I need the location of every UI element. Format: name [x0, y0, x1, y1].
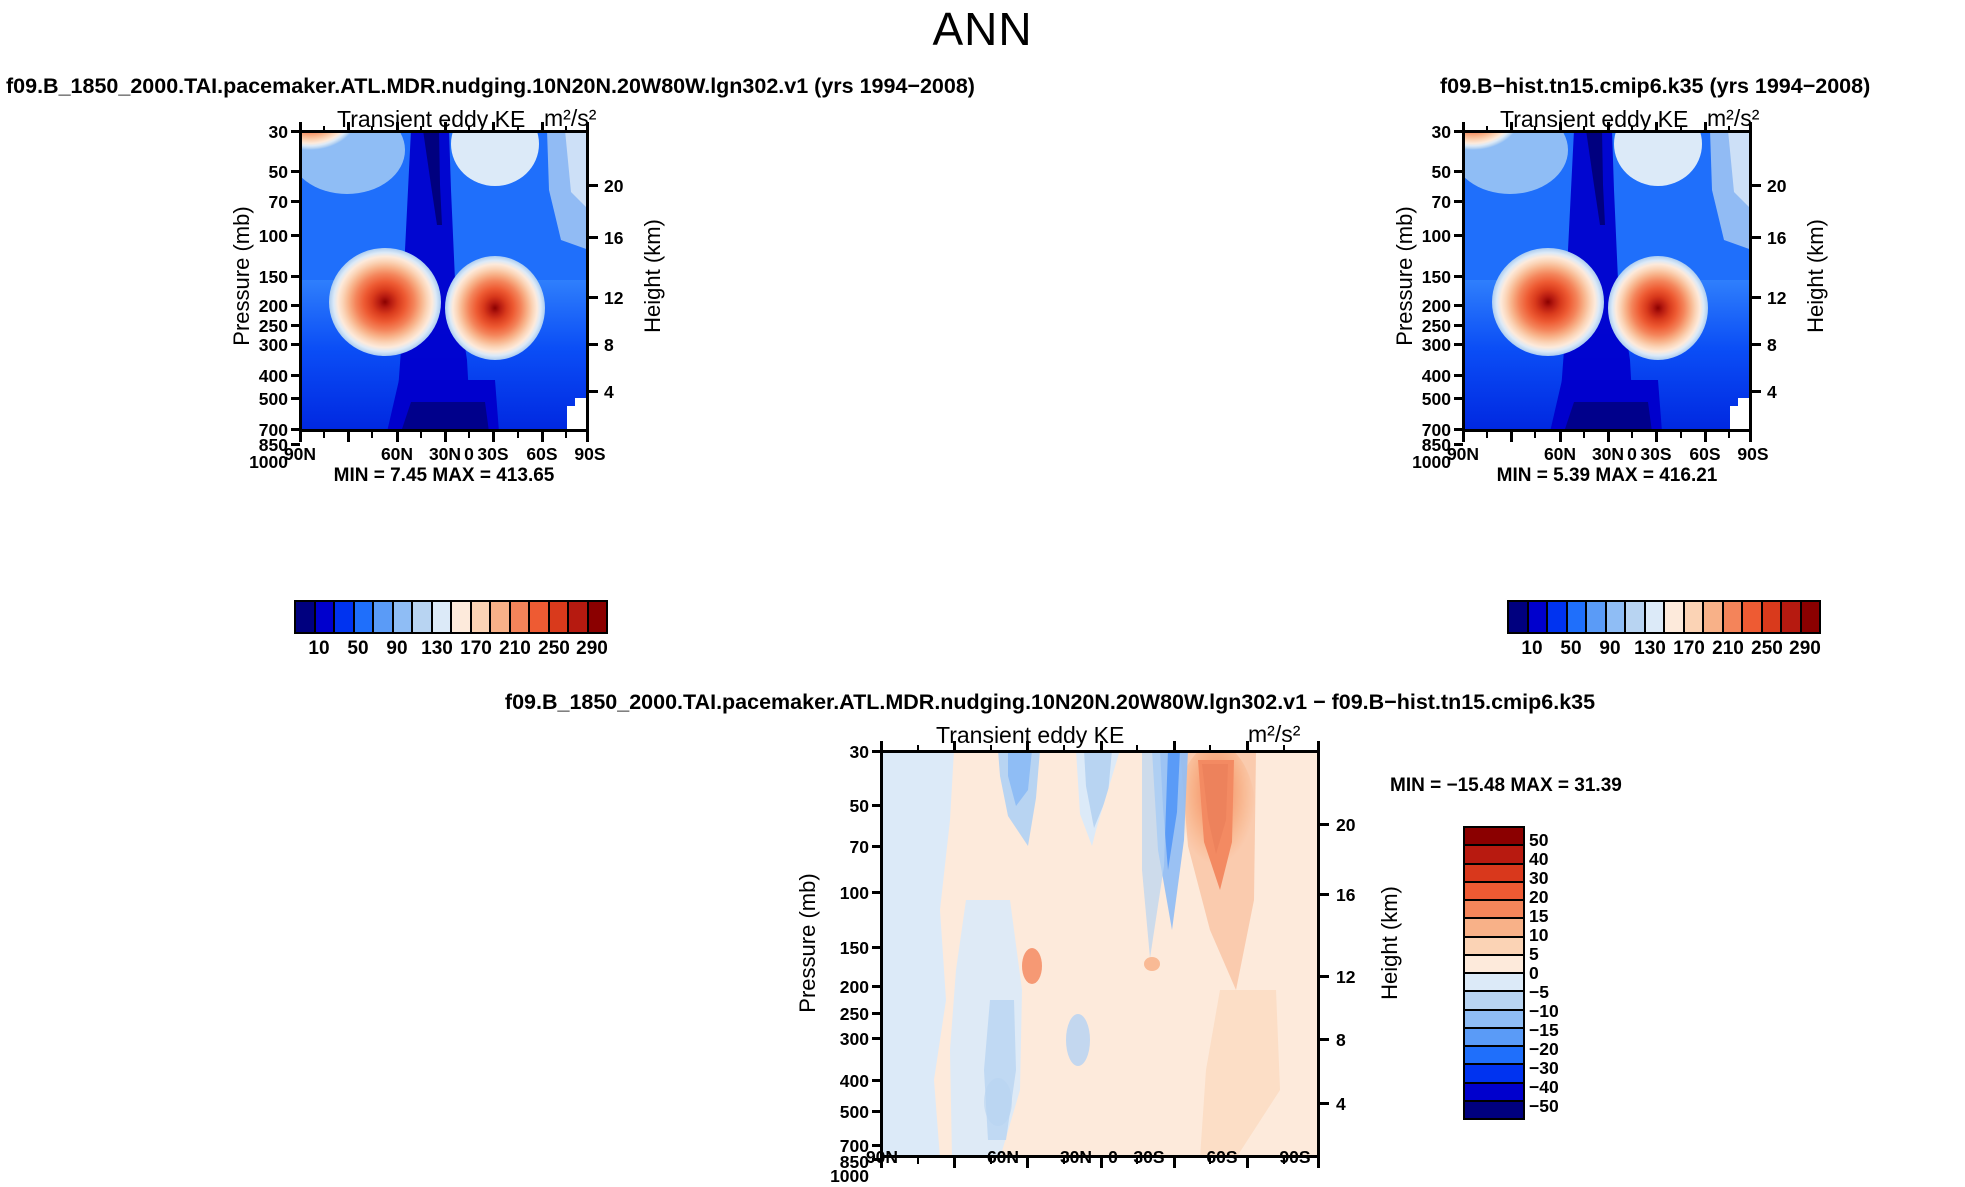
ytick-label: 50 [228, 162, 288, 183]
ytick-label: 200 [228, 296, 288, 317]
colorbar-swatch [1782, 602, 1802, 632]
colorbar-tick-label: 0 [1529, 963, 1589, 984]
y2tick [1320, 975, 1329, 978]
panel-title-right: f09.B−hist.tn15.cmip6.k35 (yrs 1994−2008… [1440, 74, 1870, 99]
y2tick-label: 8 [1336, 1030, 1380, 1051]
ytick [291, 304, 300, 307]
top-tick [1246, 741, 1249, 751]
ytick [291, 275, 300, 278]
colorbar-swatch [1607, 602, 1627, 632]
ytick [1454, 304, 1463, 307]
top-tick [1317, 741, 1320, 751]
ytick-label: 400 [809, 1071, 869, 1092]
y-axis-label-right-diff: Height (km) [1377, 858, 1403, 1028]
colorbar-swatch [1465, 846, 1523, 864]
ytick-label: 150 [809, 938, 869, 959]
colorbar-swatch [374, 602, 394, 632]
colorbar-left[interactable] [294, 600, 608, 634]
ytick [291, 200, 300, 203]
ytick [1454, 130, 1463, 133]
top-tick [565, 126, 567, 131]
colorbar-tick-label: −40 [1529, 1077, 1589, 1098]
ytick-label: 100 [228, 226, 288, 247]
ytick-label: 50 [1391, 162, 1451, 183]
ytick [291, 343, 300, 346]
colorbar-swatch [1509, 602, 1529, 632]
colorbar-swatch [1465, 1047, 1523, 1065]
y2tick [589, 296, 598, 299]
ytick-label: 30 [228, 122, 288, 143]
colorbar-swatch [1548, 602, 1568, 632]
ytick [291, 234, 300, 237]
xtick [1749, 432, 1752, 442]
y2tick-label: 20 [604, 176, 648, 197]
xtick [444, 432, 447, 442]
top-tick [541, 122, 544, 131]
ytick [291, 130, 300, 133]
xtick [1728, 432, 1730, 438]
colorbar-swatch [296, 602, 316, 632]
xtick [1486, 432, 1488, 438]
colorbar-diff[interactable] [1463, 826, 1525, 1120]
xtick [1462, 432, 1465, 442]
top-tick [420, 126, 422, 131]
ytick [872, 845, 881, 848]
top-tick [1100, 741, 1103, 751]
colorbar-swatch [1465, 1102, 1523, 1118]
colorbar-swatch [1465, 992, 1523, 1010]
top-tick [396, 122, 399, 131]
units-diff: m²/s² [1248, 721, 1300, 748]
colorbar-swatch [1743, 602, 1763, 632]
xtick-label: 60N [977, 1147, 1029, 1168]
xtick [371, 432, 373, 438]
y2tick [1320, 893, 1329, 896]
top-tick [492, 122, 495, 131]
colorbar-tick-label: −5 [1529, 982, 1589, 1003]
colorbar-swatch [355, 602, 375, 632]
xtick-label: 60S [1680, 444, 1730, 465]
xtick-label: 60S [1196, 1147, 1248, 1168]
xtick [492, 432, 495, 442]
ytick [291, 428, 300, 431]
colorbar-swatch [1465, 938, 1523, 956]
xtick-label: 90S [1728, 444, 1778, 465]
y2tick-label: 20 [1767, 176, 1811, 197]
ytick [1454, 428, 1463, 431]
ytick [872, 1079, 881, 1082]
y2tick [1320, 1102, 1329, 1105]
ytick [1454, 275, 1463, 278]
y2tick [1752, 184, 1761, 187]
ytick-label: 30 [1391, 122, 1451, 143]
ytick [872, 1012, 881, 1015]
xtick [517, 432, 519, 438]
top-tick [468, 126, 470, 131]
xtick [1655, 432, 1658, 442]
xtick-label: 60N [1535, 444, 1585, 465]
top-tick [1173, 741, 1176, 751]
ytick-label: 70 [228, 192, 288, 213]
ytick [1454, 324, 1463, 327]
ytick-label: 200 [809, 977, 869, 998]
y2tick-label: 12 [1767, 288, 1811, 309]
top-tick [1655, 122, 1658, 131]
field-name-left: Transient eddy KE [337, 106, 525, 133]
y2tick-label: 8 [1767, 335, 1811, 356]
y2tick-label: 20 [1336, 815, 1380, 836]
xtick [1631, 432, 1633, 438]
xtick [586, 432, 589, 442]
top-tick [1680, 126, 1682, 131]
colorbar-swatch [335, 602, 355, 632]
ytick-label: 300 [228, 335, 288, 356]
top-tick [1136, 745, 1138, 751]
ytick-label: 70 [809, 837, 869, 858]
ytick-label: 400 [1391, 366, 1451, 387]
colorbar-swatch [394, 602, 414, 632]
field-name-right: Transient eddy KE [1500, 106, 1688, 133]
colorbar-tick-label: −30 [1529, 1058, 1589, 1079]
ytick [291, 397, 300, 400]
y2tick [589, 390, 598, 393]
ytick-label: 250 [1391, 316, 1451, 337]
xtick-label: 30S [1631, 444, 1681, 465]
colorbar-swatch [1465, 1011, 1523, 1029]
ytick-label: 30 [809, 742, 869, 763]
ytick-label: 500 [1391, 389, 1451, 410]
y2tick-label: 8 [604, 335, 648, 356]
colorbar-tick-label: −10 [1529, 1001, 1589, 1022]
y2tick-label: 4 [1336, 1094, 1380, 1115]
xtick [1704, 432, 1707, 442]
y2tick [1752, 390, 1761, 393]
xtick [396, 432, 399, 442]
top-tick [1728, 126, 1730, 131]
ytick-label: 400 [228, 366, 288, 387]
y2tick [1320, 823, 1329, 826]
ytick-label: 300 [809, 1029, 869, 1050]
top-tick [586, 122, 589, 131]
ytick-label: 70 [1391, 192, 1451, 213]
ytick-label: 300 [1391, 335, 1451, 356]
xtick [1559, 432, 1562, 442]
xtick [468, 432, 470, 438]
colorbar-tick-label: 290 [1780, 638, 1830, 660]
y2tick-label: 12 [604, 288, 648, 309]
xtick [1534, 432, 1536, 438]
colorbar-tick-label: 30 [1529, 868, 1589, 889]
xtick [917, 1158, 919, 1164]
ytick [872, 891, 881, 894]
colorbar-tick-label: −15 [1529, 1020, 1589, 1041]
ytick [291, 374, 300, 377]
xtick [1583, 432, 1585, 438]
colorbar-swatch [589, 602, 607, 632]
colorbar-swatch [1465, 919, 1523, 937]
top-tick [953, 741, 956, 751]
colorbar-swatch [1465, 1084, 1523, 1102]
ytick [872, 985, 881, 988]
colorbar-swatch [530, 602, 550, 632]
top-tick [1534, 126, 1536, 131]
colorbar-swatch [1646, 602, 1666, 632]
colorbar-tick-label: 50 [1529, 830, 1589, 851]
xtick [1607, 432, 1610, 442]
ytick [872, 946, 881, 949]
colorbar-swatch [1587, 602, 1607, 632]
y2tick [589, 343, 598, 346]
colorbar-swatch [1529, 602, 1549, 632]
xtick-label: 90N [856, 1147, 908, 1168]
y2tick-label: 16 [1767, 228, 1811, 249]
colorbar-swatch [1465, 865, 1523, 883]
ytick [291, 324, 300, 327]
ytick [872, 750, 881, 753]
colorbar-swatch [1763, 602, 1783, 632]
ytick-label: 1000 [799, 1166, 869, 1187]
colorbar-tick-label: −50 [1529, 1096, 1589, 1117]
colorbar-swatch [491, 602, 511, 632]
ytick-label: 500 [809, 1102, 869, 1123]
colorbar-tick-label: −20 [1529, 1039, 1589, 1060]
colorbar-tick-label: 20 [1529, 887, 1589, 908]
colorbar-swatch [1465, 956, 1523, 974]
xtick [299, 432, 302, 442]
panel-title-diff: f09.B_1850_2000.TAI.pacemaker.ATL.MDR.nu… [500, 690, 1600, 715]
colorbar-swatch [1465, 901, 1523, 919]
colorbar-swatch [1465, 883, 1523, 901]
ytick [872, 1110, 881, 1113]
top-tick [1209, 745, 1211, 751]
ytick-label: 150 [1391, 267, 1451, 288]
field-name-diff: Transient eddy KE [936, 722, 1124, 749]
colorbar-swatch [413, 602, 433, 632]
ytick-label: 150 [228, 267, 288, 288]
colorbar-tick-label: 5 [1529, 944, 1589, 965]
ytick [1454, 343, 1463, 346]
y2tick-label: 12 [1336, 967, 1380, 988]
ytick-label: 500 [228, 389, 288, 410]
top-tick [1749, 122, 1752, 131]
top-tick [517, 126, 519, 131]
ytick [872, 804, 881, 807]
ytick-label: 100 [1391, 226, 1451, 247]
top-tick [1063, 745, 1065, 751]
minmax-right: MIN = 5.39 MAX = 416.21 [1462, 465, 1752, 487]
xtick [565, 432, 567, 438]
xtick [1680, 432, 1682, 438]
y2tick [589, 236, 598, 239]
colorbar-tick-label: 290 [567, 638, 617, 660]
main-title: ANN [0, 2, 1965, 56]
colorbar-swatch [511, 602, 531, 632]
ytick [1454, 397, 1463, 400]
xtick-label: 30S [1123, 1147, 1175, 1168]
minmax-diff: MIN = −15.48 MAX = 31.39 [1390, 775, 1622, 797]
colorbar-swatch [1665, 602, 1685, 632]
y2tick-label: 4 [1767, 382, 1811, 403]
top-tick [990, 745, 992, 751]
ytick [1454, 234, 1463, 237]
top-tick [1704, 122, 1707, 131]
xtick-label: 90S [565, 444, 615, 465]
colorbar-tick-label: 40 [1529, 849, 1589, 870]
colorbar-swatch [1465, 1029, 1523, 1047]
xtick-label: 30S [468, 444, 518, 465]
colorbar-swatch [433, 602, 453, 632]
xtick [1510, 432, 1513, 442]
colorbar-swatch [1465, 828, 1523, 846]
colorbar-swatch [1685, 602, 1705, 632]
minmax-left: MIN = 7.45 MAX = 413.65 [299, 465, 589, 487]
ytick [291, 170, 300, 173]
ytick [1454, 200, 1463, 203]
y2tick-label: 4 [604, 382, 648, 403]
colorbar-swatch [569, 602, 589, 632]
top-tick [1559, 122, 1562, 131]
top-tick [1026, 741, 1029, 751]
colorbar-swatch [1465, 1065, 1523, 1083]
ytick [1454, 170, 1463, 173]
panel-title-left: f09.B_1850_2000.TAI.pacemaker.ATL.MDR.nu… [6, 74, 975, 99]
top-tick [1510, 122, 1513, 131]
xtick [953, 1158, 956, 1168]
ytick-label: 200 [1391, 296, 1451, 317]
colorbar-swatch [1626, 602, 1646, 632]
xtick [541, 432, 544, 442]
top-tick [917, 745, 919, 751]
y2tick [1752, 236, 1761, 239]
colorbar-swatch [316, 602, 336, 632]
colorbar-tick-label: 15 [1529, 906, 1589, 927]
colorbar-swatch [1465, 974, 1523, 992]
xtick [420, 432, 422, 438]
xtick-label: 60N [372, 444, 422, 465]
top-tick [1486, 126, 1488, 131]
colorbar-swatch [452, 602, 472, 632]
colorbar-swatch [1704, 602, 1724, 632]
xtick-label: 90N [275, 444, 325, 465]
xtick [323, 432, 325, 438]
top-tick [1607, 122, 1610, 131]
y2tick-label: 16 [604, 228, 648, 249]
xtick-label: 90S [1269, 1147, 1321, 1168]
top-tick [371, 126, 373, 131]
colorbar-swatch [472, 602, 492, 632]
y2tick-label: 16 [1336, 885, 1380, 906]
top-tick [1631, 126, 1633, 131]
top-tick [347, 122, 350, 131]
xtick-label: 60S [517, 444, 567, 465]
xtick [347, 432, 350, 442]
contour-plot-left[interactable] [299, 130, 589, 432]
colorbar-tick-label: 10 [1529, 925, 1589, 946]
ytick-label: 50 [809, 796, 869, 817]
contour-plot-right[interactable] [1462, 130, 1752, 432]
top-tick [323, 126, 325, 131]
y2tick [589, 184, 598, 187]
contour-plot-diff[interactable] [880, 750, 1320, 1158]
ytick [1454, 374, 1463, 377]
ytick-label: 250 [809, 1004, 869, 1025]
top-tick [1283, 745, 1285, 751]
ytick [872, 1037, 881, 1040]
colorbar-swatch [550, 602, 570, 632]
colorbar-swatch [1568, 602, 1588, 632]
top-tick [444, 122, 447, 131]
colorbar-right[interactable] [1507, 600, 1821, 634]
ytick-label: 250 [228, 316, 288, 337]
colorbar-swatch [1724, 602, 1744, 632]
y2tick [1752, 296, 1761, 299]
colorbar-swatch [1802, 602, 1820, 632]
xtick-label: 90N [1438, 444, 1488, 465]
top-tick [1583, 126, 1585, 131]
y2tick [1752, 343, 1761, 346]
ytick-label: 100 [809, 883, 869, 904]
y2tick [1320, 1038, 1329, 1041]
